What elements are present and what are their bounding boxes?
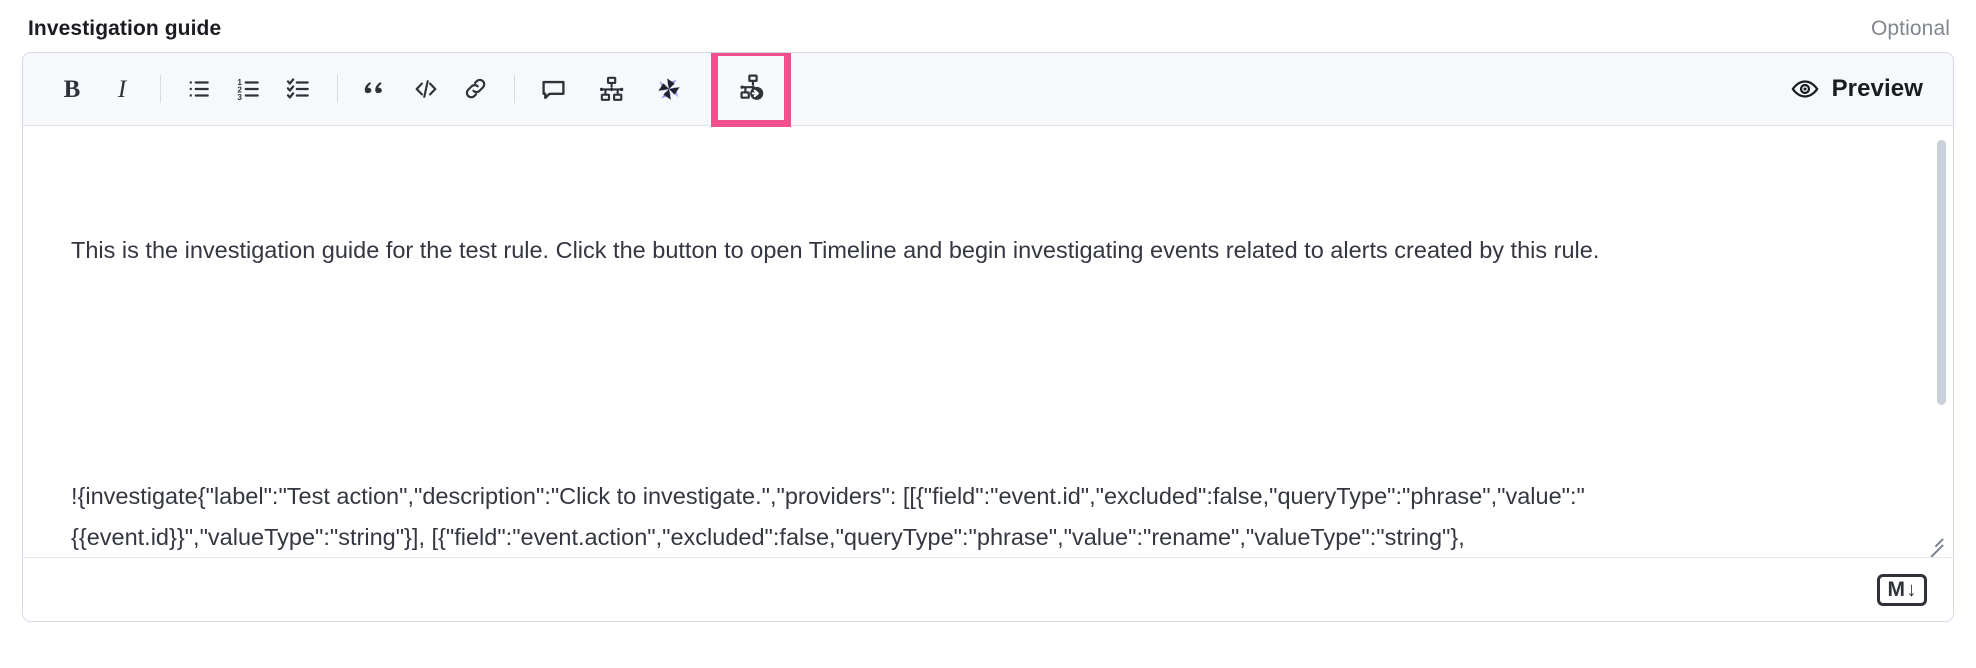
investigate-in-timeline-button[interactable] xyxy=(726,63,776,113)
bold-button[interactable]: B xyxy=(47,64,97,114)
editor-blank-line xyxy=(71,353,1907,394)
timeline-icon xyxy=(598,76,625,103)
editor-toolbar: B I xyxy=(23,53,1953,126)
osquery-icon xyxy=(654,74,684,104)
toolbar-divider-2 xyxy=(337,75,338,103)
comment-button[interactable] xyxy=(528,64,578,114)
quote-icon xyxy=(363,76,389,102)
bullet-list-button[interactable] xyxy=(174,64,224,114)
investigate-in-timeline-icon xyxy=(737,74,765,102)
eye-icon xyxy=(1791,75,1819,103)
editor-paragraph: !{investigate{"label":"Test action","des… xyxy=(71,476,1907,557)
toolbar-divider-3 xyxy=(514,75,515,103)
investigate-button-highlight xyxy=(711,52,791,127)
italic-button[interactable]: I xyxy=(97,64,147,114)
toolbar-group-blocks xyxy=(351,64,501,114)
link-icon xyxy=(463,76,489,102)
bold-icon: B xyxy=(64,77,81,102)
bullet-list-icon xyxy=(186,76,212,102)
code-icon xyxy=(413,76,439,102)
toolbar-group-text-style: B I xyxy=(47,64,147,114)
field-label: Investigation guide xyxy=(28,17,221,41)
preview-label: Preview xyxy=(1832,75,1923,103)
editor-textarea[interactable]: This is the investigation guide for the … xyxy=(23,126,1953,557)
svg-text:3: 3 xyxy=(237,93,242,102)
resize-handle[interactable] xyxy=(1923,529,1945,551)
markdown-arrow: ↓ xyxy=(1907,580,1917,600)
italic-icon: I xyxy=(118,77,126,102)
toolbar-group-lists: 1 2 3 xyxy=(174,64,324,114)
editor-paragraph: This is the investigation guide for the … xyxy=(71,230,1907,271)
ordered-list-icon: 1 2 3 xyxy=(236,76,262,102)
toolbar-group-security-plugins xyxy=(528,64,708,114)
comment-icon xyxy=(540,76,567,103)
toolbar-divider-1 xyxy=(160,75,161,103)
task-list-button[interactable] xyxy=(274,64,324,114)
task-list-icon xyxy=(286,76,312,102)
markdown-letter: M xyxy=(1888,579,1905,600)
preview-button[interactable]: Preview xyxy=(1783,69,1931,109)
investigation-guide-editor-page: Investigation guide Optional B I xyxy=(0,0,1976,668)
editor-footer: M ↓ xyxy=(23,557,1953,621)
code-button[interactable] xyxy=(401,64,451,114)
optional-badge: Optional xyxy=(1871,17,1950,41)
timeline-button[interactable] xyxy=(586,64,636,114)
field-header-row: Investigation guide Optional xyxy=(0,0,1976,58)
markdown-icon[interactable]: M ↓ xyxy=(1877,574,1927,606)
vertical-scrollbar-thumb[interactable] xyxy=(1937,140,1946,405)
osquery-button[interactable] xyxy=(644,64,694,114)
ordered-list-button[interactable]: 1 2 3 xyxy=(224,64,274,114)
markdown-editor: B I xyxy=(22,52,1954,622)
editor-textarea-wrapper[interactable]: This is the investigation guide for the … xyxy=(23,126,1953,557)
link-button[interactable] xyxy=(451,64,501,114)
quote-button[interactable] xyxy=(351,64,401,114)
